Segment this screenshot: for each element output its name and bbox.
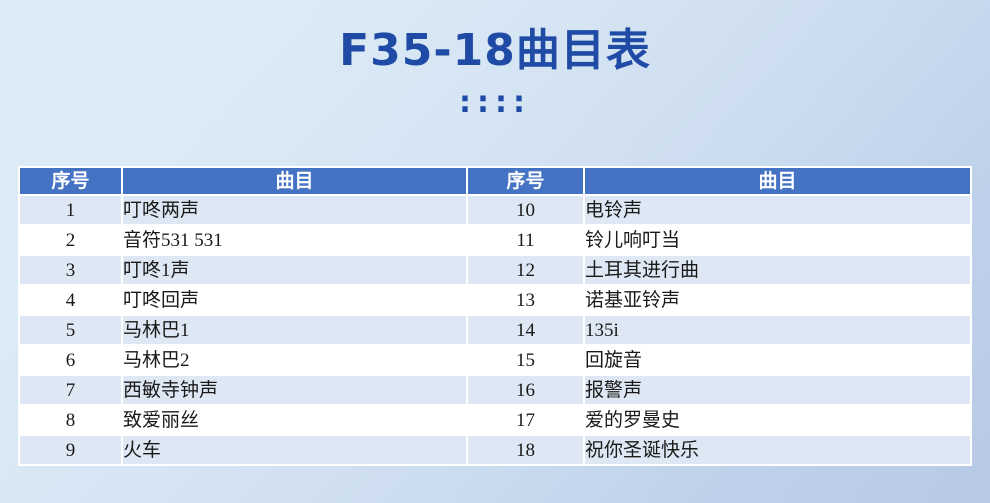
cell-name-right: 爱的罗曼史 (584, 405, 970, 435)
table-row: 9 火车 18 祝你圣诞快乐 (20, 435, 970, 464)
column-header-name-left: 曲目 (122, 168, 467, 195)
cell-name-right: 土耳其进行曲 (584, 255, 970, 285)
title-block: F35-18曲目表 :::: (0, 22, 990, 118)
cell-no-right: 10 (467, 195, 584, 225)
songs-table: 序号 曲目 序号 曲目 1 叮咚两声 10 电铃声 2 音符531 531 11 (20, 168, 970, 464)
cell-name-left: 马林巴2 (122, 345, 467, 375)
cell-name-right: 诺基亚铃声 (584, 285, 970, 315)
cell-name-right: 135i (584, 315, 970, 345)
table-header: 序号 曲目 序号 曲目 (20, 168, 970, 195)
table-body: 1 叮咚两声 10 电铃声 2 音符531 531 11 铃儿响叮当 3 叮咚1… (20, 195, 970, 464)
cell-no-left: 5 (20, 315, 122, 345)
column-header-name-right: 曲目 (584, 168, 970, 195)
cell-name-left: 西敏寺钟声 (122, 375, 467, 405)
cell-name-right: 铃儿响叮当 (584, 225, 970, 255)
cell-no-right: 16 (467, 375, 584, 405)
cell-name-left: 火车 (122, 435, 467, 464)
cell-no-right: 17 (467, 405, 584, 435)
table-row: 6 马林巴2 15 回旋音 (20, 345, 970, 375)
cell-name-left: 音符531 531 (122, 225, 467, 255)
table-row: 5 马林巴1 14 135i (20, 315, 970, 345)
cell-no-left: 4 (20, 285, 122, 315)
cell-no-right: 11 (467, 225, 584, 255)
table-row: 7 西敏寺钟声 16 报警声 (20, 375, 970, 405)
page-title: F35-18曲目表 (0, 22, 990, 80)
cell-name-right: 电铃声 (584, 195, 970, 225)
cell-name-left: 马林巴1 (122, 315, 467, 345)
cell-name-right: 报警声 (584, 375, 970, 405)
cell-no-left: 2 (20, 225, 122, 255)
cell-no-right: 12 (467, 255, 584, 285)
page-subtitle: :::: (0, 88, 990, 118)
cell-no-left: 3 (20, 255, 122, 285)
cell-no-right: 18 (467, 435, 584, 464)
cell-no-left: 1 (20, 195, 122, 225)
cell-no-left: 7 (20, 375, 122, 405)
table-row: 8 致爱丽丝 17 爱的罗曼史 (20, 405, 970, 435)
table-header-row: 序号 曲目 序号 曲目 (20, 168, 970, 195)
table-row: 4 叮咚回声 13 诺基亚铃声 (20, 285, 970, 315)
cell-no-left: 8 (20, 405, 122, 435)
cell-name-right: 回旋音 (584, 345, 970, 375)
table-row: 2 音符531 531 11 铃儿响叮当 (20, 225, 970, 255)
cell-name-right: 祝你圣诞快乐 (584, 435, 970, 464)
cell-name-left: 叮咚两声 (122, 195, 467, 225)
table-row: 1 叮咚两声 10 电铃声 (20, 195, 970, 225)
cell-no-left: 6 (20, 345, 122, 375)
songs-table-container: 序号 曲目 序号 曲目 1 叮咚两声 10 电铃声 2 音符531 531 11 (18, 166, 972, 466)
cell-name-left: 致爱丽丝 (122, 405, 467, 435)
cell-no-right: 13 (467, 285, 584, 315)
column-header-no-left: 序号 (20, 168, 122, 195)
cell-no-right: 15 (467, 345, 584, 375)
cell-no-left: 9 (20, 435, 122, 464)
cell-no-right: 14 (467, 315, 584, 345)
cell-name-left: 叮咚1声 (122, 255, 467, 285)
column-header-no-right: 序号 (467, 168, 584, 195)
slide-canvas: F35-18曲目表 :::: 序号 曲目 序号 曲目 1 叮咚两声 10 (0, 0, 990, 503)
cell-name-left: 叮咚回声 (122, 285, 467, 315)
table-row: 3 叮咚1声 12 土耳其进行曲 (20, 255, 970, 285)
